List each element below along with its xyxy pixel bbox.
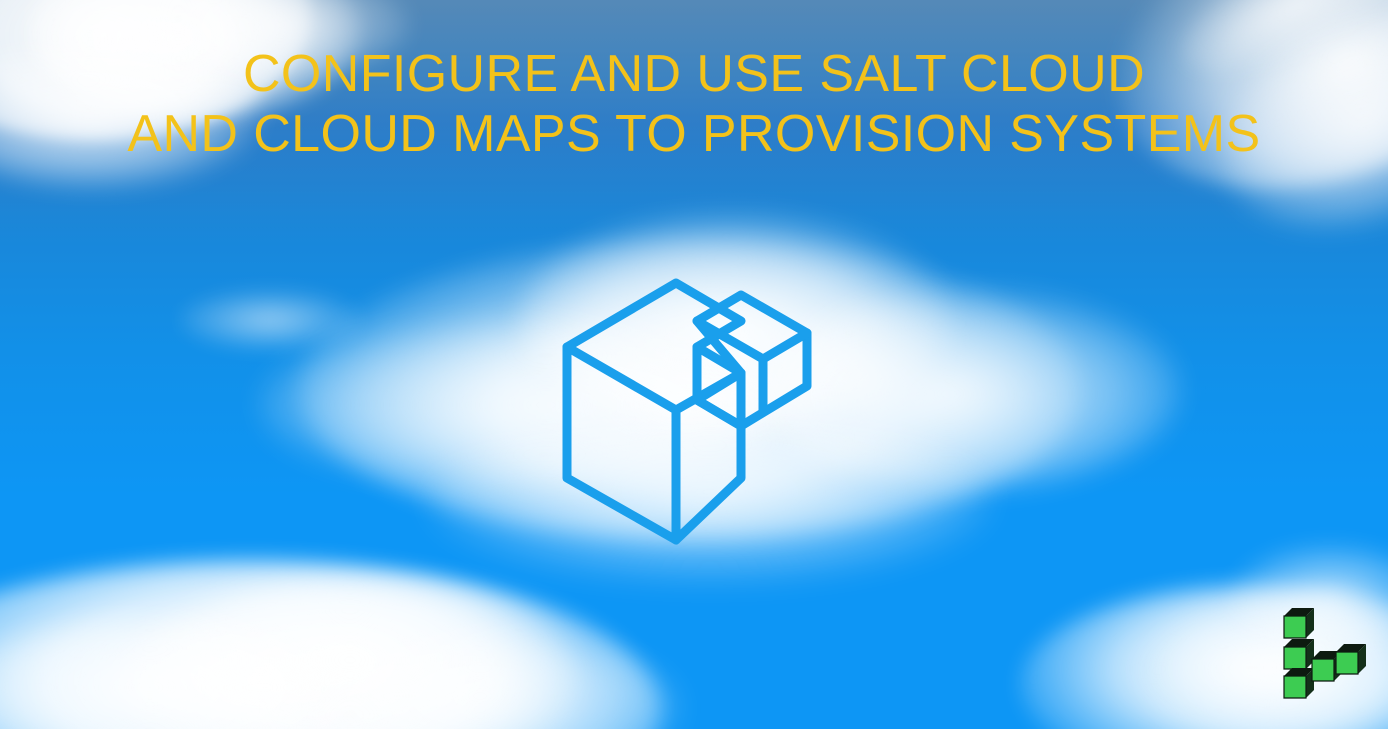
- title-line-1: CONFIGURE AND USE SALT CLOUD: [0, 44, 1388, 104]
- saltstack-cube-logo: [545, 262, 845, 552]
- linux-academy-cubes-logo: [1278, 606, 1378, 706]
- course-title-slide: CONFIGURE AND USE SALT CLOUD AND CLOUD M…: [0, 0, 1388, 729]
- brand-cube-arm-outer: [1336, 644, 1366, 674]
- title-line-2: AND CLOUD MAPS TO PROVISION SYSTEMS: [0, 104, 1388, 164]
- slide-title: CONFIGURE AND USE SALT CLOUD AND CLOUD M…: [0, 44, 1388, 164]
- brand-cube-middle: [1284, 639, 1314, 669]
- brand-cube-top: [1284, 608, 1314, 638]
- cube-notch-lower: [697, 400, 741, 426]
- brand-cube-bottom: [1284, 668, 1314, 698]
